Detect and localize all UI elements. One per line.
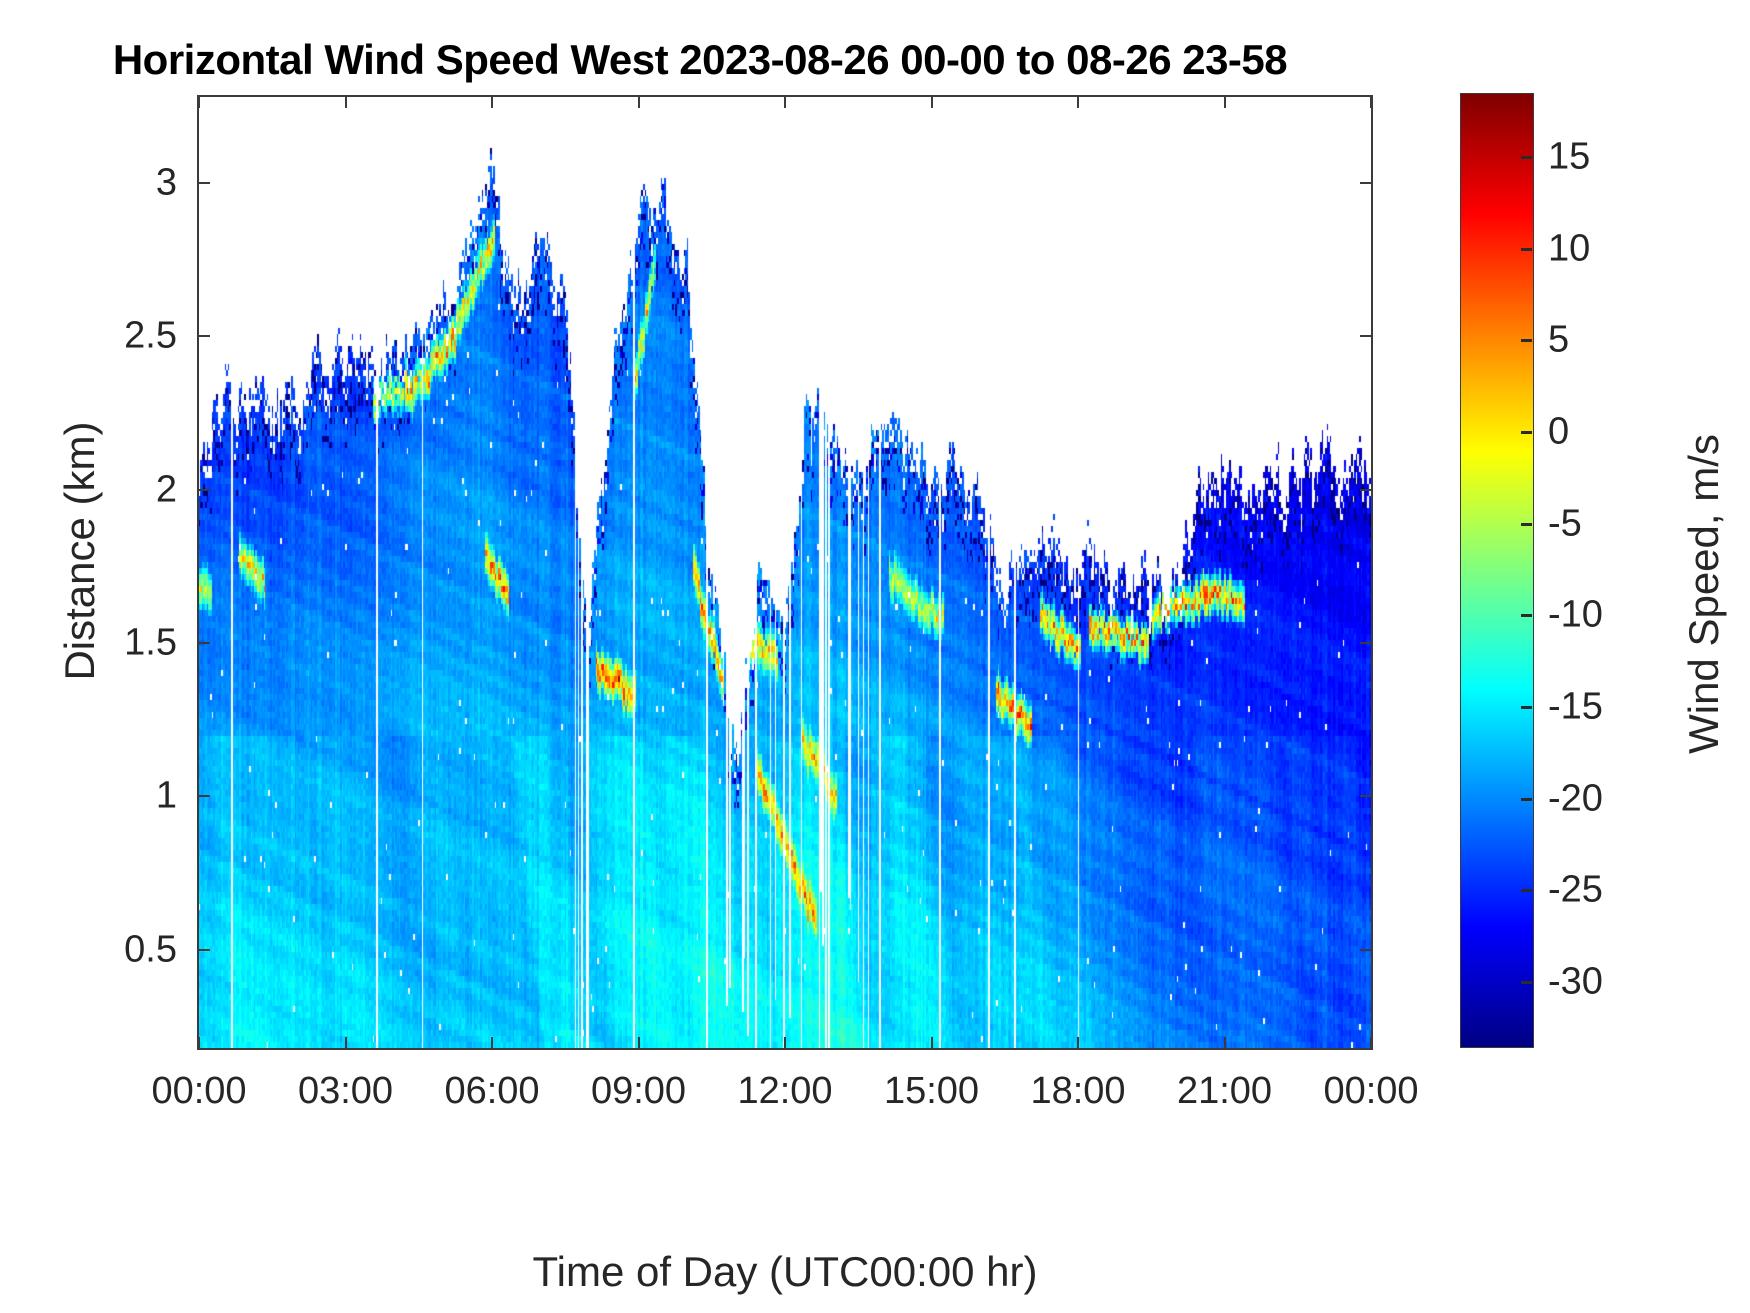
x-tick-mark-top [784, 95, 786, 108]
colorbar-tick-mark [1521, 889, 1532, 892]
colorbar-tick-mark [1521, 706, 1532, 709]
y-axis-label: Distance (km) [56, 271, 104, 831]
y-tick-mark-right [1360, 489, 1373, 491]
y-tick-mark-right [1360, 335, 1373, 337]
x-tick-label: 12:00 [737, 1070, 832, 1113]
y-tick-mark [197, 182, 210, 184]
colorbar-tick-label: 10 [1548, 227, 1590, 270]
colorbar-gradient [1460, 93, 1534, 1048]
colorbar-tick-label: -5 [1548, 502, 1582, 545]
x-tick-mark-top [1077, 95, 1079, 108]
colorbar-tick-mark [1521, 798, 1532, 801]
colorbar-tick-label: 15 [1548, 136, 1590, 179]
x-tick-label: 03:00 [298, 1070, 393, 1113]
y-tick-mark [197, 949, 210, 951]
y-tick-mark [197, 489, 210, 491]
y-tick-mark-right [1360, 795, 1373, 797]
y-tick-mark [197, 642, 210, 644]
colorbar-tick-mark [1521, 523, 1532, 526]
y-tick-label: 0.5 [7, 928, 177, 971]
x-tick-mark-top [1224, 95, 1226, 108]
x-tick-mark [1224, 1037, 1226, 1050]
x-tick-mark [784, 1037, 786, 1050]
y-tick-mark-right [1360, 182, 1373, 184]
colorbar [1460, 93, 1532, 1046]
colorbar-tick-label: -30 [1548, 960, 1603, 1003]
colorbar-tick-mark [1521, 981, 1532, 984]
x-tick-label: 00:00 [1323, 1070, 1418, 1113]
x-tick-mark-top [1370, 95, 1372, 108]
colorbar-tick-mark [1521, 614, 1532, 617]
y-tick-mark [197, 335, 210, 337]
x-tick-label: 18:00 [1030, 1070, 1125, 1113]
colorbar-tick-mark [1521, 248, 1532, 251]
colorbar-tick-label: 5 [1548, 319, 1569, 362]
x-tick-mark-top [931, 95, 933, 108]
x-tick-mark-top [198, 95, 200, 108]
colorbar-tick-label: -25 [1548, 869, 1603, 912]
x-tick-mark-top [491, 95, 493, 108]
x-tick-label: 09:00 [591, 1070, 686, 1113]
y-tick-mark-right [1360, 642, 1373, 644]
x-tick-label: 06:00 [444, 1070, 539, 1113]
x-tick-label: 15:00 [884, 1070, 979, 1113]
x-tick-mark [1077, 1037, 1079, 1050]
colorbar-tick-label: -10 [1548, 594, 1603, 637]
page-title: Horizontal Wind Speed West 2023-08-26 00… [0, 36, 1400, 84]
colorbar-tick-label: -15 [1548, 685, 1603, 728]
colorbar-tick-label: -20 [1548, 777, 1603, 820]
y-tick-label: 3 [7, 161, 177, 204]
x-tick-mark [1370, 1037, 1372, 1050]
heatmap-canvas [199, 97, 1371, 1048]
x-tick-mark [345, 1037, 347, 1050]
x-tick-mark-top [638, 95, 640, 108]
x-tick-mark [931, 1037, 933, 1050]
x-tick-label: 21:00 [1177, 1070, 1272, 1113]
x-axis-label: Time of Day (UTC00:00 hr) [197, 1248, 1373, 1296]
y-tick-mark-right [1360, 949, 1373, 951]
x-tick-label: 00:00 [151, 1070, 246, 1113]
colorbar-tick-mark [1521, 339, 1532, 342]
colorbar-tick-label: 0 [1548, 411, 1569, 454]
x-tick-mark [198, 1037, 200, 1050]
x-tick-mark [638, 1037, 640, 1050]
colorbar-label: Wind Speed, m/s [1680, 314, 1728, 874]
chart-figure: Horizontal Wind Speed West 2023-08-26 00… [0, 0, 1750, 1313]
plot-area [197, 95, 1373, 1050]
colorbar-tick-mark [1521, 431, 1532, 434]
x-tick-mark [491, 1037, 493, 1050]
x-tick-mark-top [345, 95, 347, 108]
y-tick-mark [197, 795, 210, 797]
colorbar-tick-mark [1521, 156, 1532, 159]
